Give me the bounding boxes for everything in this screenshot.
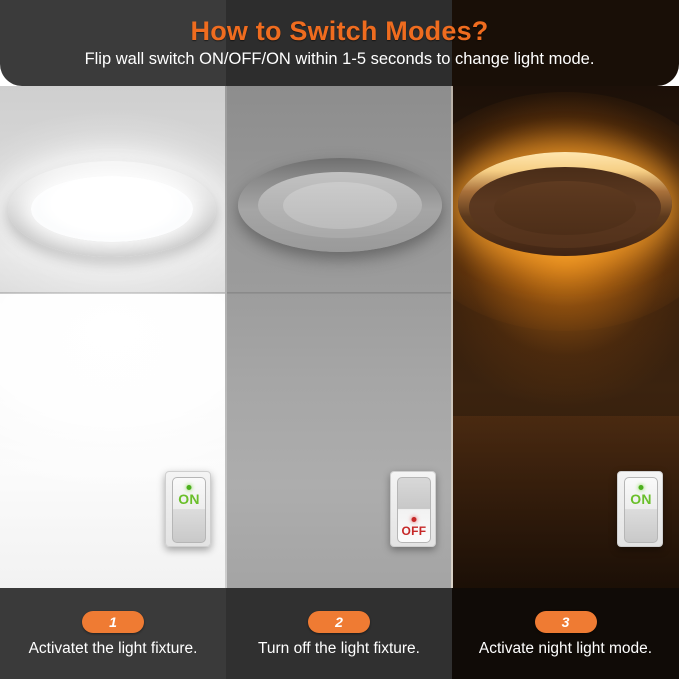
panel-divider-2 bbox=[451, 86, 453, 588]
step-caption-text: Turn off the light fixture. bbox=[258, 641, 420, 657]
panel-light-on: ON bbox=[0, 86, 226, 588]
switch-led-green bbox=[639, 485, 644, 490]
wall-switch-on[interactable]: ON bbox=[165, 471, 211, 547]
step-number: 2 bbox=[335, 615, 343, 629]
switch-led-red bbox=[412, 517, 417, 522]
panel-light-off: OFF bbox=[226, 86, 452, 588]
page-subtitle: Flip wall switch ON/OFF/ON within 1-5 se… bbox=[85, 51, 595, 68]
panel-row: ON OFF bbox=[0, 86, 679, 588]
caption-step-3: 3 Activate night light mode. bbox=[452, 588, 679, 679]
panel-night-light: ON bbox=[452, 86, 679, 588]
header-text-block: How to Switch Modes? Flip wall switch ON… bbox=[0, 0, 679, 86]
switch-label-off: OFF bbox=[398, 524, 430, 538]
panel-divider-1 bbox=[225, 86, 227, 588]
step-number: 1 bbox=[109, 615, 117, 629]
wall-switch-off[interactable]: OFF bbox=[390, 471, 436, 547]
ceiling-light-fixture-off bbox=[238, 158, 442, 252]
step-badge-3: 3 bbox=[535, 611, 597, 633]
switch-led-green bbox=[187, 485, 192, 490]
step-number: 3 bbox=[562, 615, 570, 629]
caption-step-2: 2 Turn off the light fixture. bbox=[226, 588, 452, 679]
switch-label-on: ON bbox=[625, 491, 657, 507]
wall-switch-on-night[interactable]: ON bbox=[617, 471, 663, 547]
step-caption-text: Activatet the light fixture. bbox=[29, 641, 198, 657]
step-badge-1: 1 bbox=[82, 611, 144, 633]
ceiling-light-fixture-on bbox=[8, 161, 216, 257]
page-title: How to Switch Modes? bbox=[191, 18, 489, 45]
caption-bar: 1 Activatet the light fixture. 2 Turn of… bbox=[0, 588, 679, 679]
caption-step-1: 1 Activatet the light fixture. bbox=[0, 588, 226, 679]
header-banner: How to Switch Modes? Flip wall switch ON… bbox=[0, 0, 679, 86]
switch-rocker-down[interactable]: OFF bbox=[397, 477, 431, 543]
step-caption-text: Activate night light mode. bbox=[479, 641, 652, 657]
fixture-face-inner bbox=[494, 181, 635, 235]
switch-label-on: ON bbox=[173, 491, 205, 507]
switch-rocker-up[interactable]: ON bbox=[624, 477, 658, 543]
step-badge-2: 2 bbox=[308, 611, 370, 633]
infographic-root: How to Switch Modes? Flip wall switch ON… bbox=[0, 0, 679, 679]
switch-rocker-up[interactable]: ON bbox=[172, 477, 206, 543]
ceiling-light-fixture-night bbox=[458, 152, 672, 256]
fixture-lens-lit bbox=[31, 176, 193, 241]
